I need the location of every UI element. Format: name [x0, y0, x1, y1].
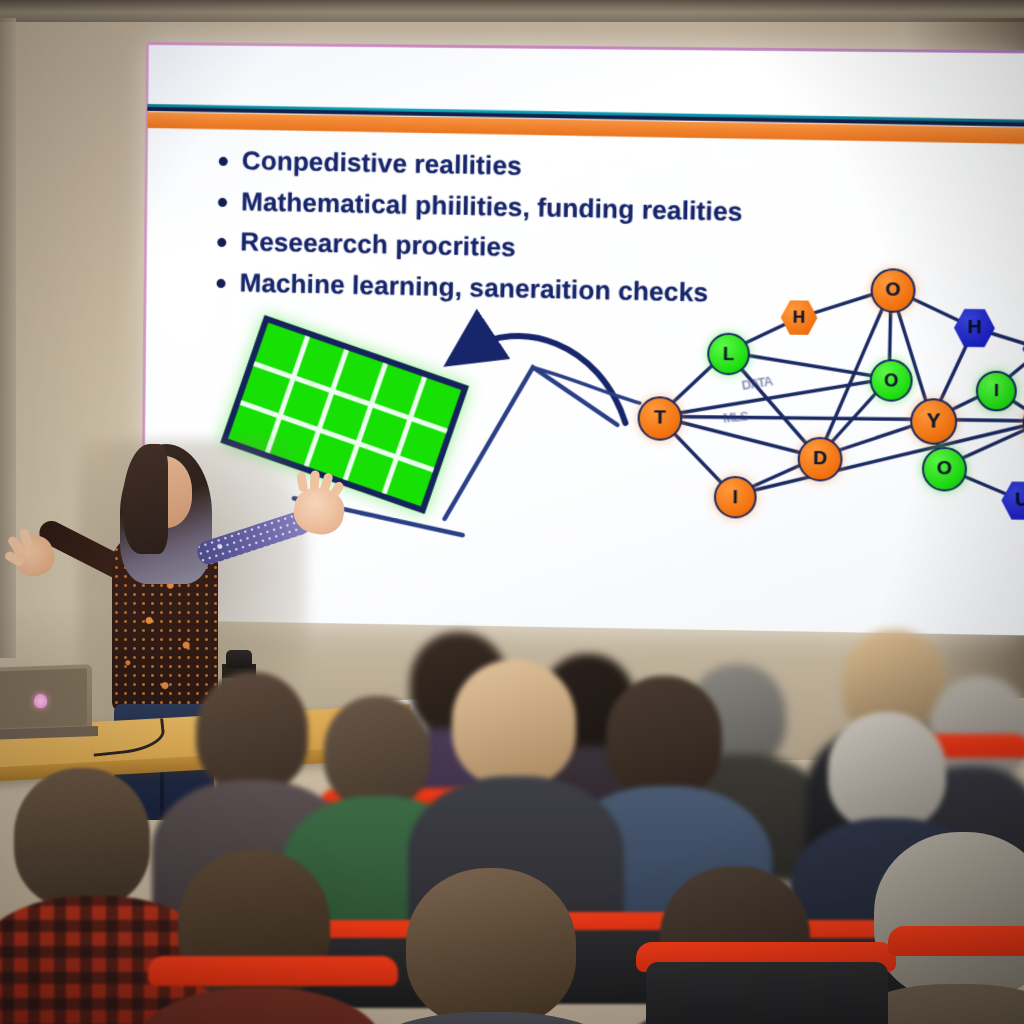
graph-node-n11: D — [797, 437, 842, 482]
graph-scribble: MLS — [722, 408, 748, 425]
network-graph-figure: OHLHUOITYDDOIU DATA MLS — [616, 245, 1024, 554]
graph-edge — [726, 352, 889, 378]
graph-node-n8: T — [637, 396, 682, 441]
graph-edges — [616, 245, 1024, 554]
ceiling-trim — [0, 0, 1024, 22]
drawn-peak-line — [445, 366, 618, 521]
graph-edge — [658, 415, 932, 420]
graph-node-n1: O — [870, 268, 915, 313]
audience — [0, 620, 1024, 1024]
chair-seat — [646, 962, 888, 1024]
grid-line — [265, 335, 310, 453]
graph-node-n3: L — [707, 333, 750, 376]
graph-node-n7: I — [976, 371, 1017, 412]
graph-node-n9: Y — [910, 398, 957, 445]
chair-back — [148, 956, 398, 986]
finger — [310, 470, 320, 491]
graph-node-n13: I — [714, 476, 757, 519]
graph-node-n6: O — [870, 359, 913, 402]
chair-back — [888, 926, 1024, 956]
graph-edge — [733, 417, 1024, 500]
lecture-photo: Conpedistive reallities Mathematical phi… — [0, 0, 1024, 1024]
grid-line — [343, 363, 388, 481]
grid-line — [382, 376, 427, 494]
graph-node-n12: O — [922, 447, 967, 492]
